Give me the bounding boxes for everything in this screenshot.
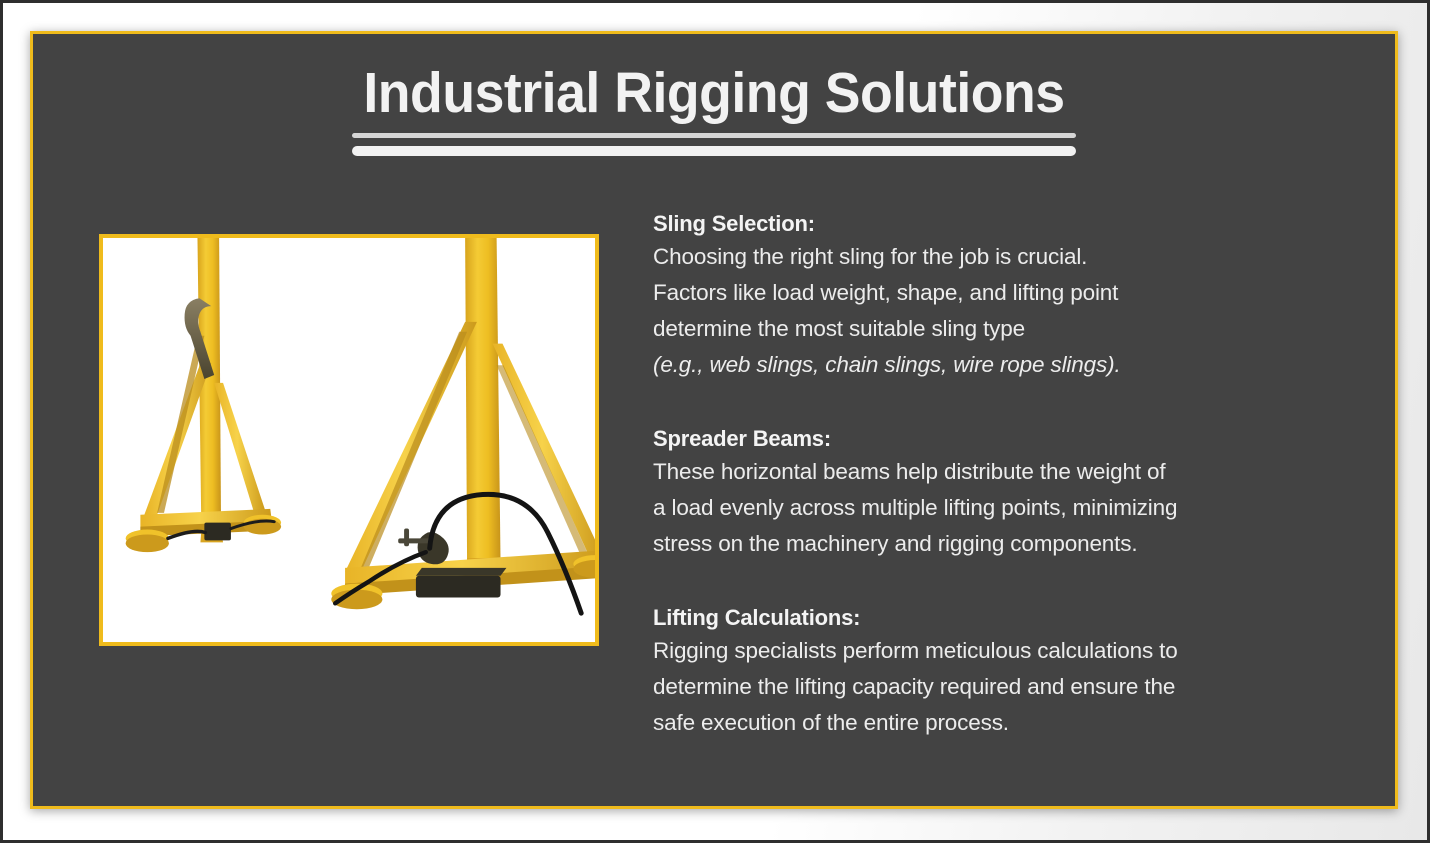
rigging-photo xyxy=(103,238,595,642)
photo-frame xyxy=(99,234,599,646)
text-column: Sling Selection: Choosing the right slin… xyxy=(653,208,1367,741)
section-sling-selection: Sling Selection: Choosing the right slin… xyxy=(653,208,1367,383)
section-spreader-beams: Spreader Beams: These horizontal beams h… xyxy=(653,423,1367,562)
section-line: safe execution of the entire process. xyxy=(653,705,1367,741)
slide-card: Industrial Rigging Solutions xyxy=(30,31,1398,809)
page-title: Industrial Rigging Solutions xyxy=(363,60,1064,126)
section-line: These horizontal beams help distribute t… xyxy=(653,454,1367,490)
content-row: Sling Selection: Choosing the right slin… xyxy=(33,202,1395,806)
title-underline-rules xyxy=(352,133,1076,156)
section-line: Rigging specialists perform meticulous c… xyxy=(653,633,1367,669)
section-heading: Sling Selection: xyxy=(653,208,1367,239)
title-rule-thin xyxy=(352,133,1076,138)
section-line: determine the most suitable sling type xyxy=(653,311,1367,347)
section-line-italic: (e.g., web slings, chain slings, wire ro… xyxy=(653,347,1367,383)
rigging-legs-illustration xyxy=(103,238,595,642)
slide-paper: Industrial Rigging Solutions xyxy=(3,3,1427,840)
section-line: Factors like load weight, shape, and lif… xyxy=(653,275,1367,311)
section-line: determine the lifting capacity required … xyxy=(653,669,1367,705)
title-block: Industrial Rigging Solutions xyxy=(33,60,1395,156)
section-lifting-calculations: Lifting Calculations: Rigging specialist… xyxy=(653,602,1367,741)
section-heading: Lifting Calculations: xyxy=(653,602,1367,633)
slide-root: Industrial Rigging Solutions xyxy=(0,0,1430,843)
section-line: a load evenly across multiple lifting po… xyxy=(653,490,1367,526)
section-heading: Spreader Beams: xyxy=(653,423,1367,454)
section-line: Choosing the right sling for the job is … xyxy=(653,239,1367,275)
section-line: stress on the machinery and rigging comp… xyxy=(653,526,1367,562)
title-rule-thick xyxy=(352,146,1076,156)
